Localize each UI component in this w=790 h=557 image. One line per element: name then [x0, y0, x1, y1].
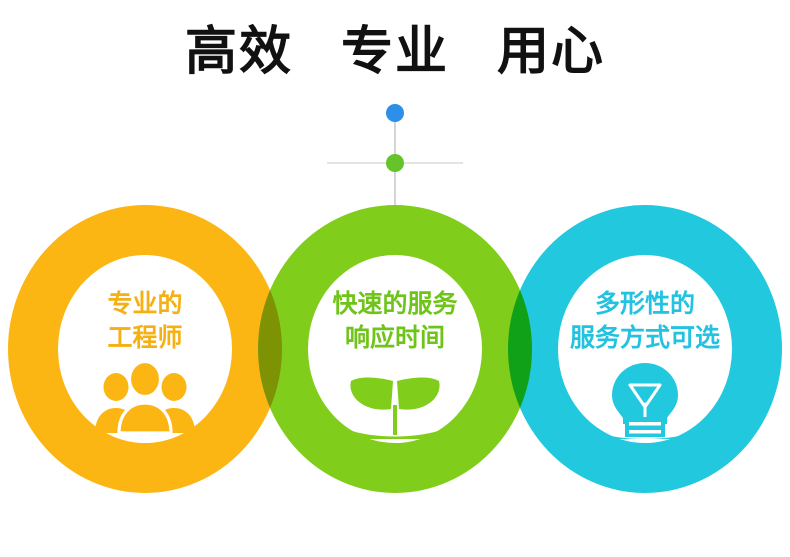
- blue-dot-icon: [386, 104, 404, 122]
- ring-professional-engineers[interactable]: [8, 205, 282, 493]
- headline-word-1: 高效: [185, 26, 293, 78]
- page-title: 高效专业用心: [0, 26, 790, 78]
- infographic-canvas: 高效专业用心 专业的 工程师: [0, 0, 790, 557]
- headline-word-3: 用心: [497, 26, 605, 78]
- green-dot-icon: [386, 154, 404, 172]
- decorative-connector: [325, 100, 465, 205]
- ring-flexible-service-modes[interactable]: [508, 205, 782, 493]
- headline-word-2: 专业: [341, 26, 449, 78]
- ring-fast-service-response[interactable]: [258, 205, 532, 493]
